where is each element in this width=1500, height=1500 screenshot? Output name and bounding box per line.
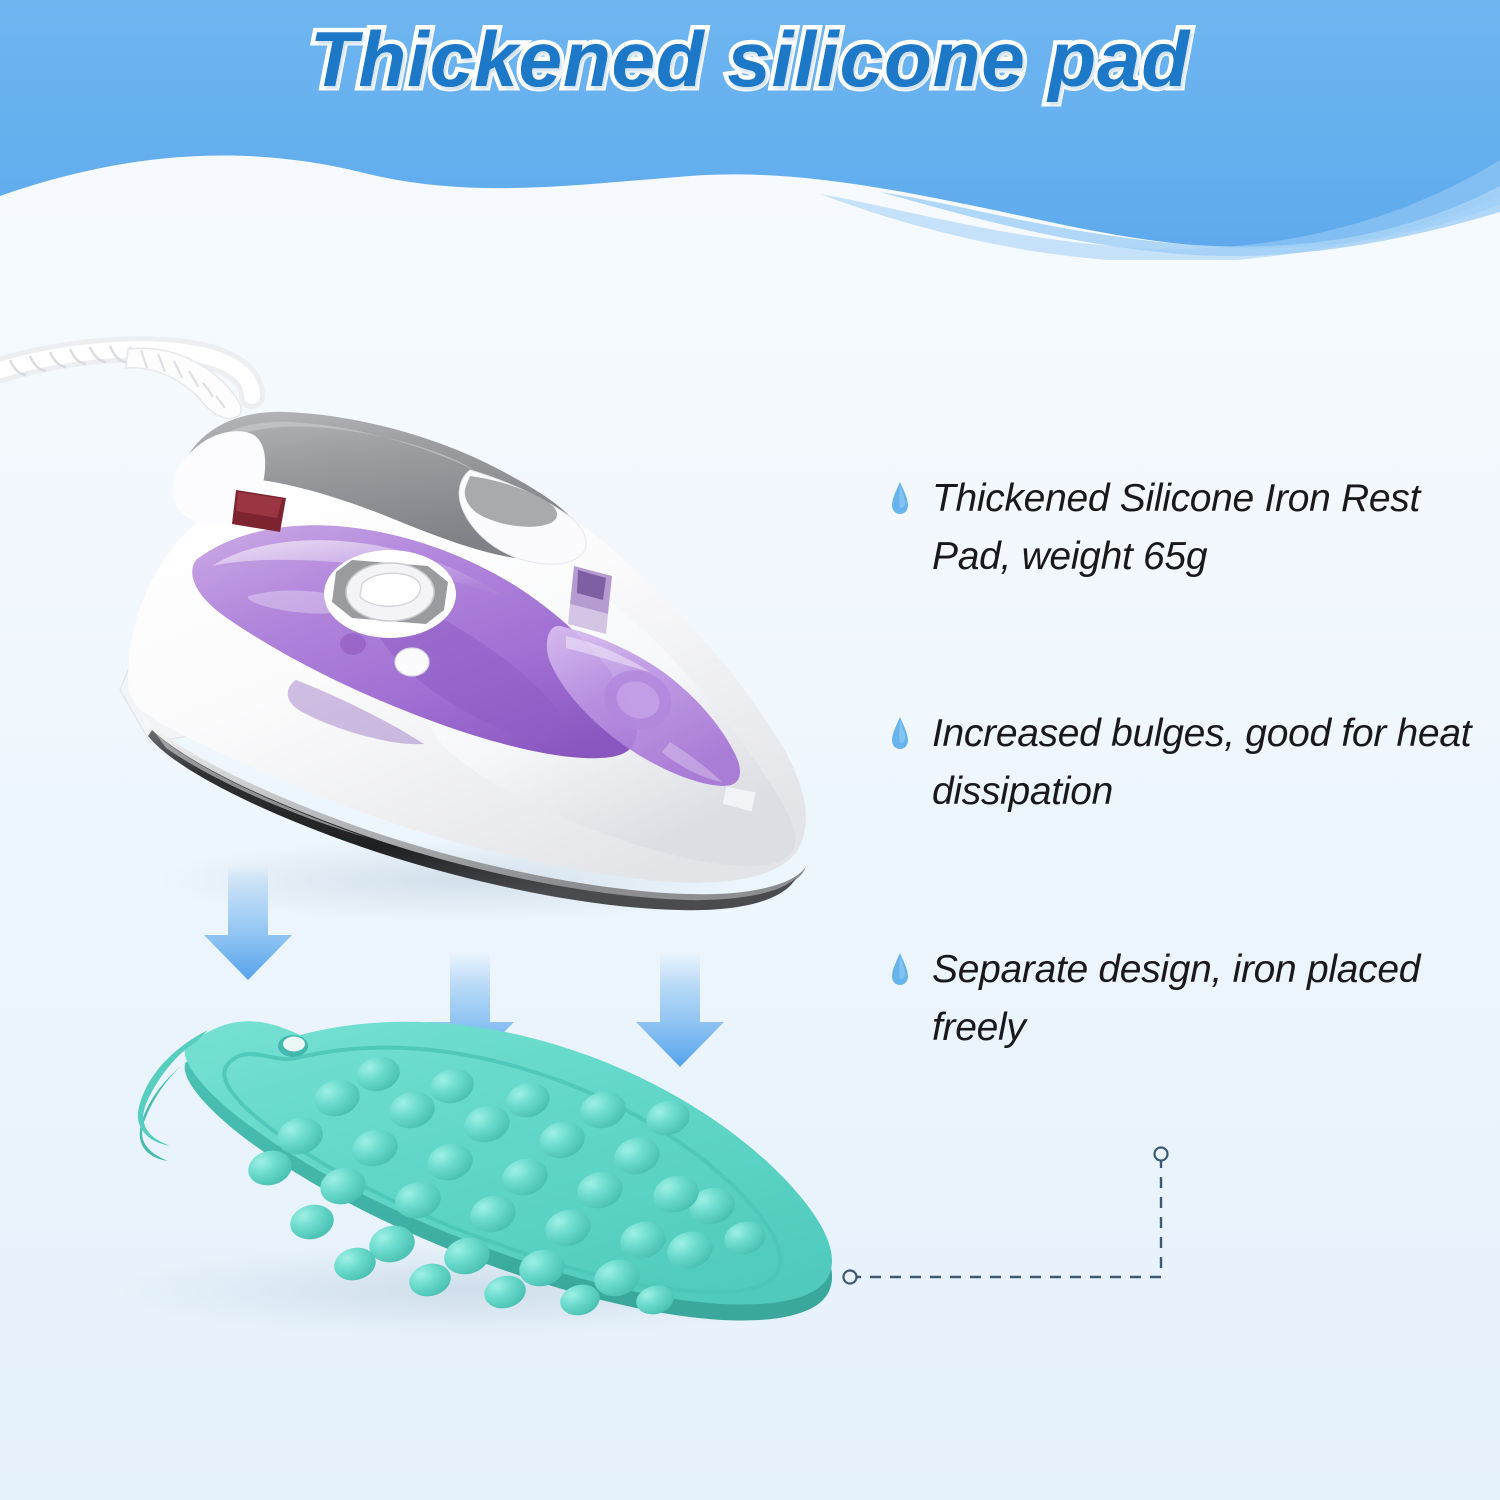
dimension-endpoint-marker [844,1271,857,1284]
iron-temperature-dial [324,550,456,638]
feature-text: Increased bulges, good for heat dissipat… [932,705,1480,820]
dimension-leader-line [830,1130,1190,1310]
feature-text: Thickened Silicone Iron Rest Pad, weight… [932,470,1480,585]
iron-drop-bullet-icon [890,716,910,750]
feature-text: Separate design, iron placed freely [932,941,1480,1056]
pad-hanging-hole [278,1035,308,1057]
iron-spray-button [395,648,429,676]
iron-power-cord [0,346,252,419]
iron-drop-bullet-icon [890,481,910,515]
feature-item: Increased bulges, good for heat dissipat… [890,705,1480,820]
dimension-endpoint-marker [1155,1148,1168,1161]
iron-drop-bullet-icon [890,952,910,986]
downward-arrow-3 [636,952,724,1067]
feature-list: Thickened Silicone Iron Rest Pad, weight… [890,470,1480,1176]
feature-item: Thickened Silicone Iron Rest Pad, weight… [890,470,1480,585]
steam-iron [120,412,806,910]
product-infographic: Thickened silicone pad Thickened silicon… [0,0,1500,1500]
feature-item: Separate design, iron placed freely [890,941,1480,1056]
iron-steam-selector [568,566,612,634]
